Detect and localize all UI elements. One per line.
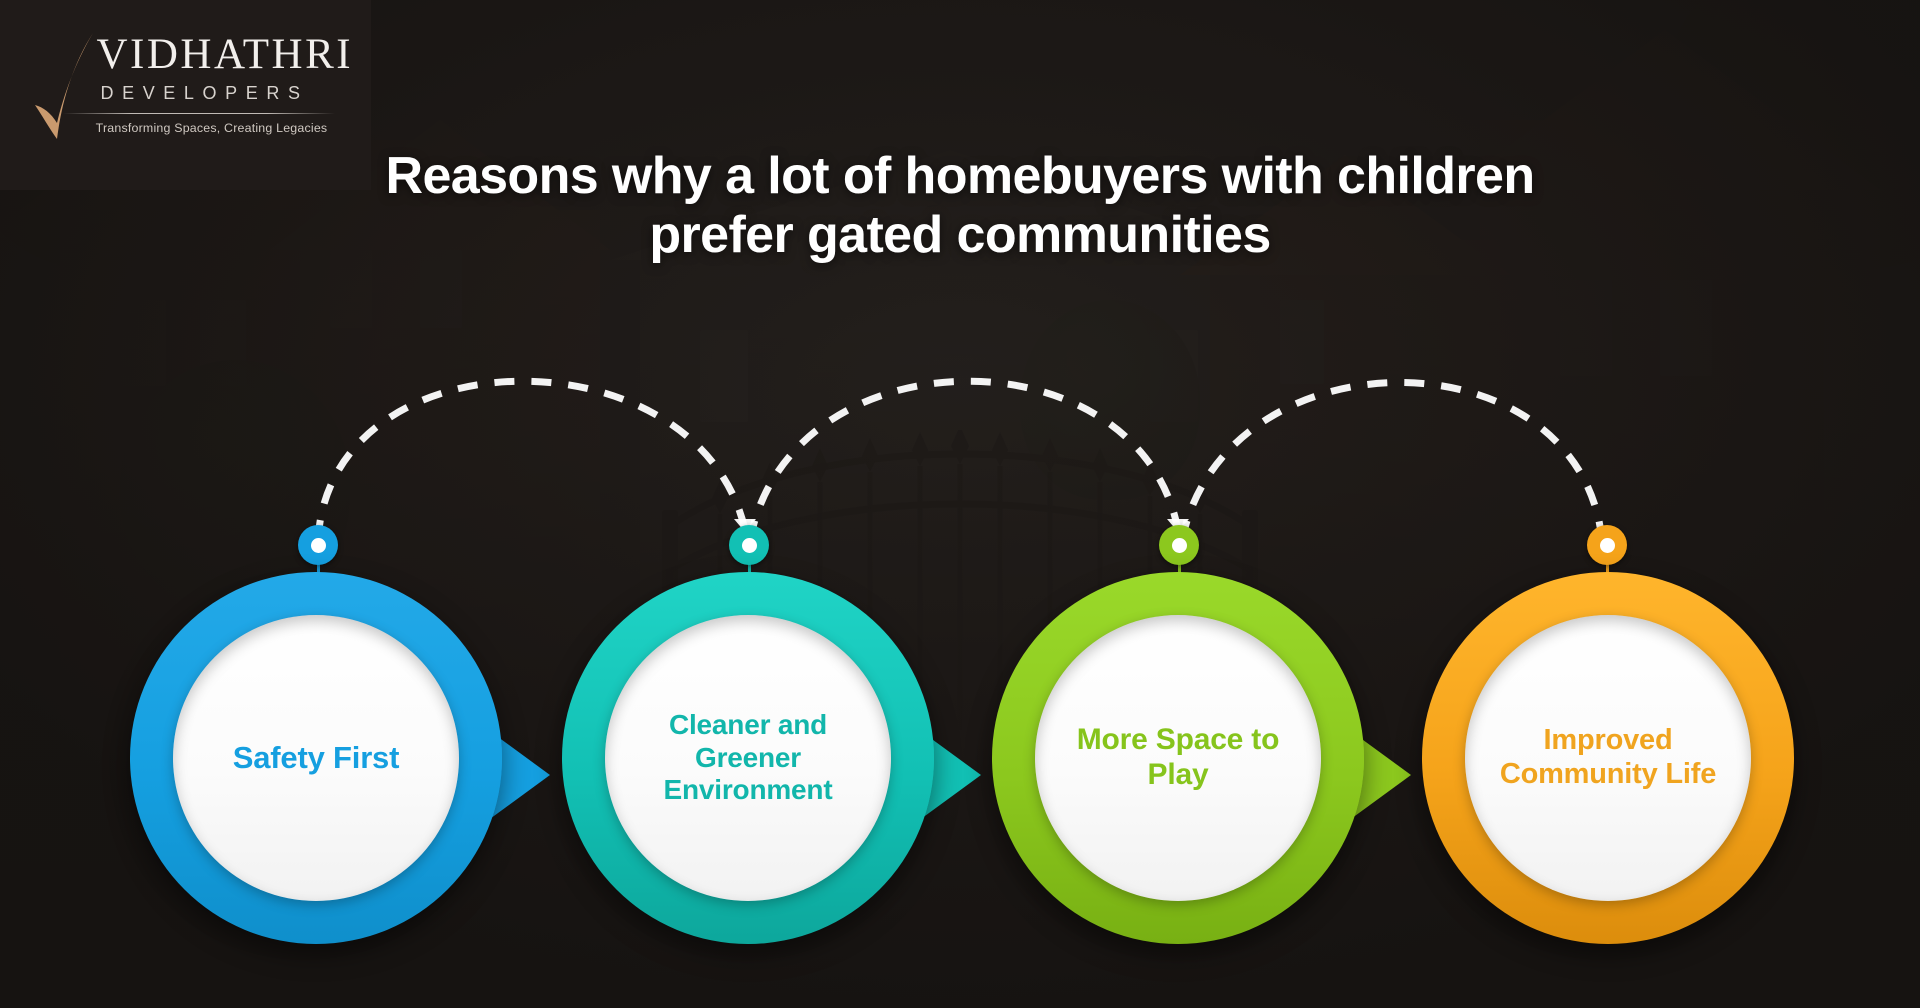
- step-label-1: Safety First: [215, 740, 417, 776]
- step-label-4: Improved Community Life: [1465, 724, 1751, 791]
- step-circle-3[interactable]: More Space to Play: [992, 572, 1364, 944]
- step-dot-1[interactable]: [298, 525, 338, 565]
- step-circle-1[interactable]: Safety First: [130, 572, 502, 944]
- step-label-3: More Space to Play: [1035, 723, 1321, 793]
- step-dot-4[interactable]: [1587, 525, 1627, 565]
- infographic-canvas: VIDHATHRI DEVELOPERS Transforming Spaces…: [0, 0, 1920, 1008]
- step-dot-2[interactable]: [729, 525, 769, 565]
- step-label-2: Cleaner and Greener Environment: [605, 709, 891, 806]
- step-circle-2[interactable]: Cleaner and Greener Environment: [562, 572, 934, 944]
- step-circle-4[interactable]: Improved Community Life: [1422, 572, 1794, 944]
- step-dot-3[interactable]: [1159, 525, 1199, 565]
